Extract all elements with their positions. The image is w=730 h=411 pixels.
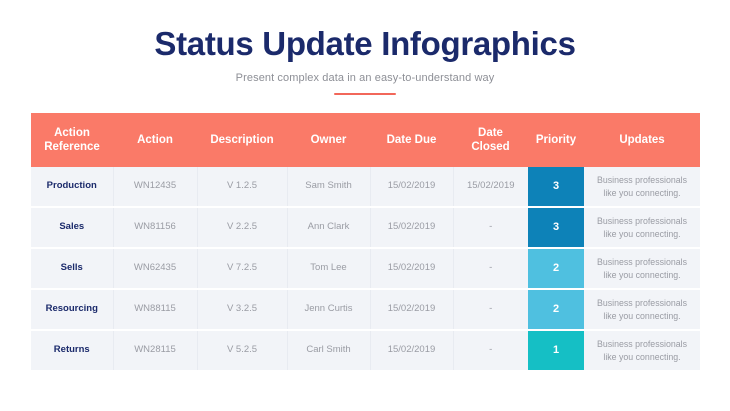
cell-description: V 5.2.5 [197,330,287,370]
column-header-action-reference[interactable]: Action Reference [31,113,113,167]
column-header-date-due[interactable]: Date Due [370,113,453,167]
cell-owner: Ann Clark [287,207,370,248]
cell-date-due: 15/02/2019 [370,289,453,330]
cell-owner: Jenn Curtis [287,289,370,330]
cell-date-due: 15/02/2019 [370,330,453,370]
cell-date-closed: - [453,248,528,289]
title-divider [334,93,396,96]
updates-line: Business professionals [597,298,687,308]
header-line: Action [54,127,90,139]
cell-priority: 2 [528,248,584,289]
table-body: ProductionWN12435V 1.2.5Sam Smith15/02/2… [31,167,700,370]
updates-line: Business professionals [597,175,687,185]
cell-owner: Sam Smith [287,167,370,207]
header-line: Closed [471,141,509,153]
cell-owner: Tom Lee [287,248,370,289]
slide-header: Status Update Infographics Present compl… [0,0,730,95]
cell-action-reference: Sales [31,207,113,248]
slide-canvas: Status Update Infographics Present compl… [0,0,730,411]
cell-date-closed: 15/02/2019 [453,167,528,207]
cell-action-reference: Sells [31,248,113,289]
cell-description: V 3.2.5 [197,289,287,330]
column-header-action[interactable]: Action [113,113,197,167]
column-header-owner[interactable]: Owner [287,113,370,167]
cell-action: WN62435 [113,248,197,289]
cell-action: WN81156 [113,207,197,248]
page-subtitle: Present complex data in an easy-to-under… [0,72,730,84]
updates-line: Business professionals [597,216,687,226]
cell-date-closed: - [453,207,528,248]
table-head: Action Reference Action Description Owne… [31,113,700,167]
header-line: Date [478,127,503,139]
header-line: Reference [44,141,100,153]
cell-updates: Business professionalslike you connectin… [584,289,700,330]
cell-updates: Business professionalslike you connectin… [584,167,700,207]
column-header-priority[interactable]: Priority [528,113,584,167]
updates-line: Business professionals [597,339,687,349]
updates-line: like you connecting. [603,270,680,280]
cell-date-due: 15/02/2019 [370,248,453,289]
table-row[interactable]: SalesWN81156V 2.2.5Ann Clark15/02/2019-3… [31,207,700,248]
page-title: Status Update Infographics [0,26,730,63]
cell-date-closed: - [453,289,528,330]
cell-action-reference: Returns [31,330,113,370]
cell-action-reference: Production [31,167,113,207]
cell-action-reference: Resourcing [31,289,113,330]
table-row[interactable]: ResourcingWN88115V 3.2.5Jenn Curtis15/02… [31,289,700,330]
cell-date-due: 15/02/2019 [370,167,453,207]
table-header-row: Action Reference Action Description Owne… [31,113,700,167]
cell-owner: Carl Smith [287,330,370,370]
cell-description: V 7.2.5 [197,248,287,289]
cell-priority: 3 [528,167,584,207]
cell-date-closed: - [453,330,528,370]
table-row[interactable]: ProductionWN12435V 1.2.5Sam Smith15/02/2… [31,167,700,207]
cell-updates: Business professionalslike you connectin… [584,207,700,248]
updates-line: like you connecting. [603,311,680,321]
cell-action: WN28115 [113,330,197,370]
updates-line: like you connecting. [603,188,680,198]
cell-priority: 2 [528,289,584,330]
cell-priority: 1 [528,330,584,370]
cell-action: WN12435 [113,167,197,207]
cell-priority: 3 [528,207,584,248]
column-header-date-closed[interactable]: Date Closed [453,113,528,167]
updates-line: like you connecting. [603,352,680,362]
column-header-description[interactable]: Description [197,113,287,167]
status-table-container: Action Reference Action Description Owne… [31,113,700,370]
cell-updates: Business professionalslike you connectin… [584,248,700,289]
updates-line: Business professionals [597,257,687,267]
cell-action: WN88115 [113,289,197,330]
table-row[interactable]: ReturnsWN28115V 5.2.5Carl Smith15/02/201… [31,330,700,370]
cell-description: V 2.2.5 [197,207,287,248]
status-table: Action Reference Action Description Owne… [31,113,700,370]
table-row[interactable]: SellsWN62435V 7.2.5Tom Lee15/02/2019-2Bu… [31,248,700,289]
cell-description: V 1.2.5 [197,167,287,207]
cell-updates: Business professionalslike you connectin… [584,330,700,370]
updates-line: like you connecting. [603,229,680,239]
column-header-updates[interactable]: Updates [584,113,700,167]
cell-date-due: 15/02/2019 [370,207,453,248]
